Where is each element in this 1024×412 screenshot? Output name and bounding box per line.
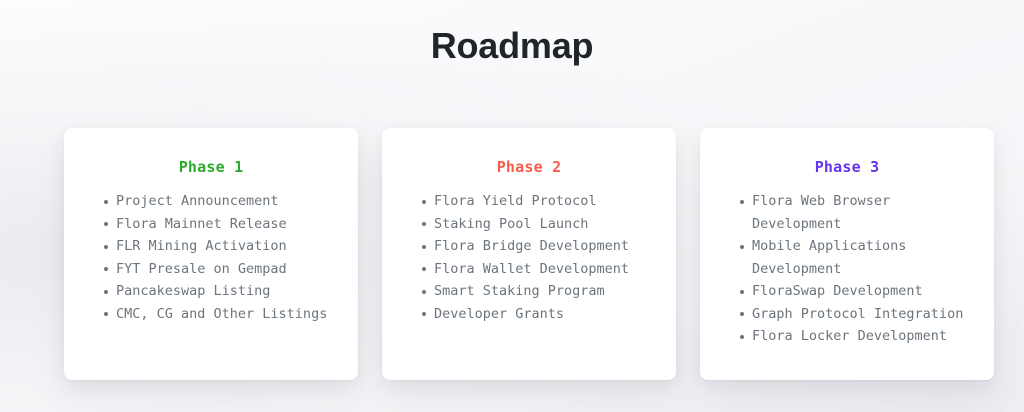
- phase-card-2-title: Phase 2: [400, 156, 658, 178]
- phase-card-1: Phase 1 Project Announcement Flora Mainn…: [64, 128, 358, 380]
- phase-card-list: Phase 1 Project Announcement Flora Mainn…: [64, 128, 994, 380]
- phase-card-3-items: Flora Web Browser Development Mobile App…: [718, 190, 976, 348]
- list-item: Staking Pool Launch: [422, 213, 658, 236]
- roadmap-page: Roadmap Phase 1 Project Announcement Flo…: [0, 0, 1024, 412]
- page-title: Roadmap: [0, 0, 1024, 68]
- list-item: Flora Locker Development: [740, 325, 976, 348]
- phase-card-3-title: Phase 3: [718, 156, 976, 178]
- list-item: Flora Wallet Development: [422, 258, 658, 281]
- phase-card-2: Phase 2 Flora Yield Protocol Staking Poo…: [382, 128, 676, 380]
- list-item: CMC, CG and Other Listings: [104, 303, 340, 326]
- list-item: Flora Mainnet Release: [104, 213, 340, 236]
- list-item: Flora Bridge Development: [422, 235, 658, 258]
- list-item: Flora Yield Protocol: [422, 190, 658, 213]
- phase-card-2-items: Flora Yield Protocol Staking Pool Launch…: [400, 190, 658, 325]
- list-item: Pancakeswap Listing: [104, 280, 340, 303]
- list-item: Mobile Applications Development: [740, 235, 976, 280]
- phase-card-1-items: Project Announcement Flora Mainnet Relea…: [82, 190, 340, 325]
- list-item: Flora Web Browser Development: [740, 190, 976, 235]
- list-item: FLR Mining Activation: [104, 235, 340, 258]
- list-item: FYT Presale on Gempad: [104, 258, 340, 281]
- phase-card-3: Phase 3 Flora Web Browser Development Mo…: [700, 128, 994, 380]
- list-item: Project Announcement: [104, 190, 340, 213]
- list-item: Smart Staking Program: [422, 280, 658, 303]
- list-item: FloraSwap Development: [740, 280, 976, 303]
- phase-card-1-title: Phase 1: [82, 156, 340, 178]
- list-item: Developer Grants: [422, 303, 658, 326]
- list-item: Graph Protocol Integration: [740, 303, 976, 326]
